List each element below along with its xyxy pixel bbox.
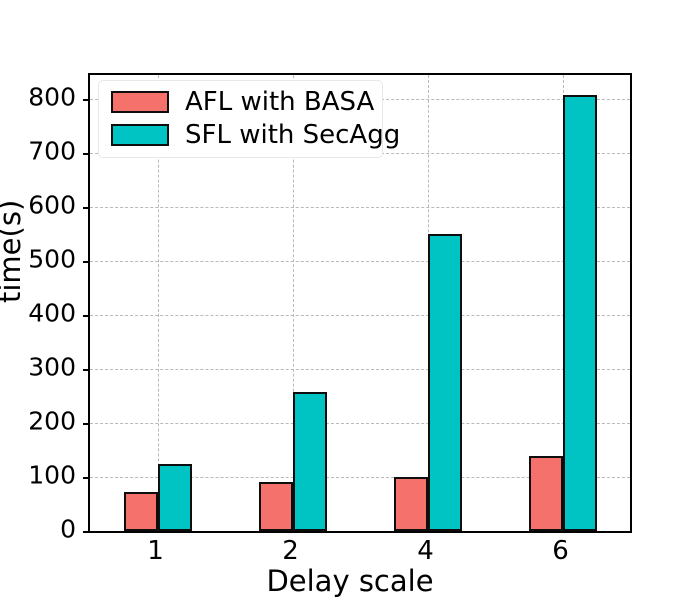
legend-label: SFL with SecAgg bbox=[185, 122, 400, 148]
bar-afl-with-basa-2 bbox=[259, 482, 293, 531]
y-axis-tick-label: 300 bbox=[4, 355, 76, 380]
y-axis-tick-label: 400 bbox=[4, 301, 76, 326]
legend-label: AFL with BASA bbox=[185, 89, 374, 115]
y-axis-tick bbox=[83, 423, 90, 425]
bar-sfl-with-secagg-4 bbox=[428, 234, 462, 531]
y-axis-tick-label: 700 bbox=[4, 139, 76, 164]
y-axis-tick-label: 800 bbox=[4, 85, 76, 110]
x-axis-tick-label: 6 bbox=[552, 538, 569, 564]
y-axis-tick-label: 500 bbox=[4, 247, 76, 272]
x-axis-label: Delay scale bbox=[0, 567, 700, 596]
y-axis-tick bbox=[83, 477, 90, 479]
x-axis-tick-label: 4 bbox=[417, 538, 434, 564]
bar-sfl-with-secagg-1 bbox=[158, 464, 192, 531]
chart-legend: AFL with BASASFL with SecAgg bbox=[98, 80, 383, 158]
legend-swatch-icon bbox=[111, 124, 169, 146]
x-axis-tick-label: 2 bbox=[282, 538, 299, 564]
bar-afl-with-basa-4 bbox=[394, 477, 428, 532]
bar-sfl-with-secagg-2 bbox=[293, 392, 327, 531]
legend-item-1: AFL with BASA bbox=[111, 89, 370, 115]
y-axis-tick bbox=[83, 315, 90, 317]
y-axis-tick bbox=[83, 531, 90, 533]
bar-chart-figure: time(s) Delay scale AFL with BASASFL wit… bbox=[0, 0, 700, 600]
y-axis-tick bbox=[83, 261, 90, 263]
y-axis-tick bbox=[83, 153, 90, 155]
bar-sfl-with-secagg-6 bbox=[563, 95, 597, 531]
y-axis-tick bbox=[83, 99, 90, 101]
legend-swatch-icon bbox=[111, 91, 169, 113]
bar-afl-with-basa-6 bbox=[529, 456, 563, 531]
x-axis-tick-label: 1 bbox=[147, 538, 164, 564]
y-axis-tick bbox=[83, 369, 90, 371]
y-axis-tick-label: 200 bbox=[4, 409, 76, 434]
y-axis-tick-label: 600 bbox=[4, 193, 76, 218]
y-axis-tick-label: 0 bbox=[4, 517, 76, 542]
bar-afl-with-basa-1 bbox=[124, 492, 158, 531]
y-axis-tick-label: 100 bbox=[4, 463, 76, 488]
y-axis-tick bbox=[83, 207, 90, 209]
legend-item-2: SFL with SecAgg bbox=[111, 122, 370, 148]
